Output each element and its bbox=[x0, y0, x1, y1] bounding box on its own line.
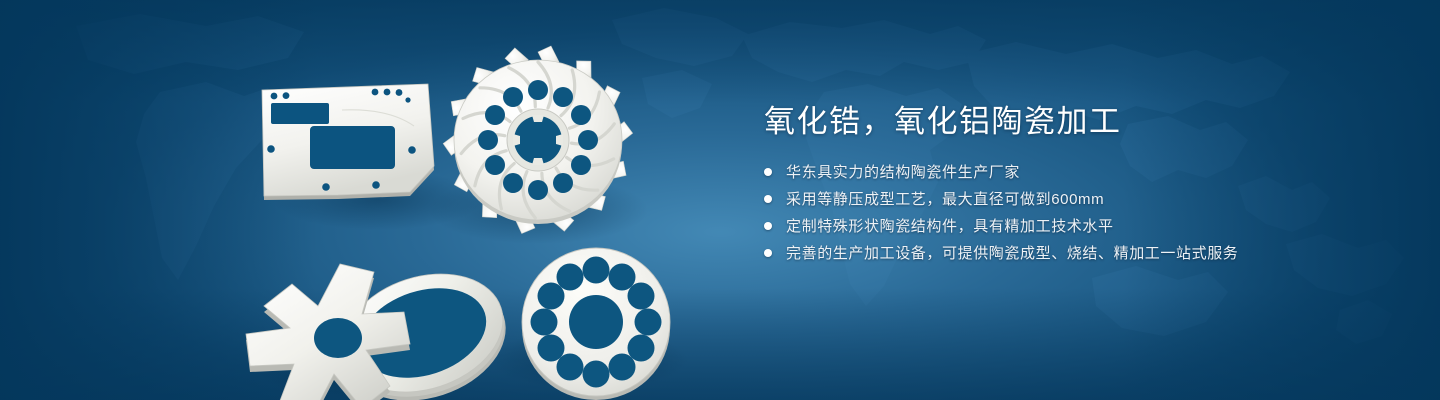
banner-copy-block: 氧化锆，氧化铝陶瓷加工 华东具实力的结构陶瓷件生产厂家 采用等静压成型工艺，最大… bbox=[764, 104, 1384, 263]
page-title: 氧化锆，氧化铝陶瓷加工 bbox=[764, 104, 1384, 141]
list-item: 定制特殊形状陶瓷结构件，具有精加工技术水平 bbox=[764, 217, 1384, 236]
feature-text: 完善的生产加工设备，可提供陶瓷成型、烧结、精加工一站式服务 bbox=[786, 244, 1238, 263]
feature-list: 华东具实力的结构陶瓷件生产厂家 采用等静压成型工艺，最大直径可做到600mm 定… bbox=[764, 163, 1384, 263]
bullet-dot-icon bbox=[764, 168, 772, 176]
bullet-dot-icon bbox=[764, 195, 772, 203]
ceramic-products-photo bbox=[238, 50, 698, 395]
ceramic-perforated-ring bbox=[522, 248, 670, 400]
list-item: 完善的生产加工设备，可提供陶瓷成型、烧结、精加工一站式服务 bbox=[764, 244, 1384, 263]
bullet-dot-icon bbox=[764, 249, 772, 257]
hero-banner: 氧化锆，氧化铝陶瓷加工 华东具实力的结构陶瓷件生产厂家 采用等静压成型工艺，最大… bbox=[0, 0, 1440, 400]
feature-text: 定制特殊形状陶瓷结构件，具有精加工技术水平 bbox=[786, 217, 1114, 236]
bullet-dot-icon bbox=[764, 222, 772, 230]
list-item: 华东具实力的结构陶瓷件生产厂家 bbox=[764, 163, 1384, 182]
list-item: 采用等静压成型工艺，最大直径可做到600mm bbox=[764, 190, 1384, 209]
feature-text: 华东具实力的结构陶瓷件生产厂家 bbox=[786, 163, 1020, 182]
feature-text: 采用等静压成型工艺，最大直径可做到600mm bbox=[786, 190, 1104, 209]
ceramic-mounting-plate bbox=[262, 84, 434, 200]
